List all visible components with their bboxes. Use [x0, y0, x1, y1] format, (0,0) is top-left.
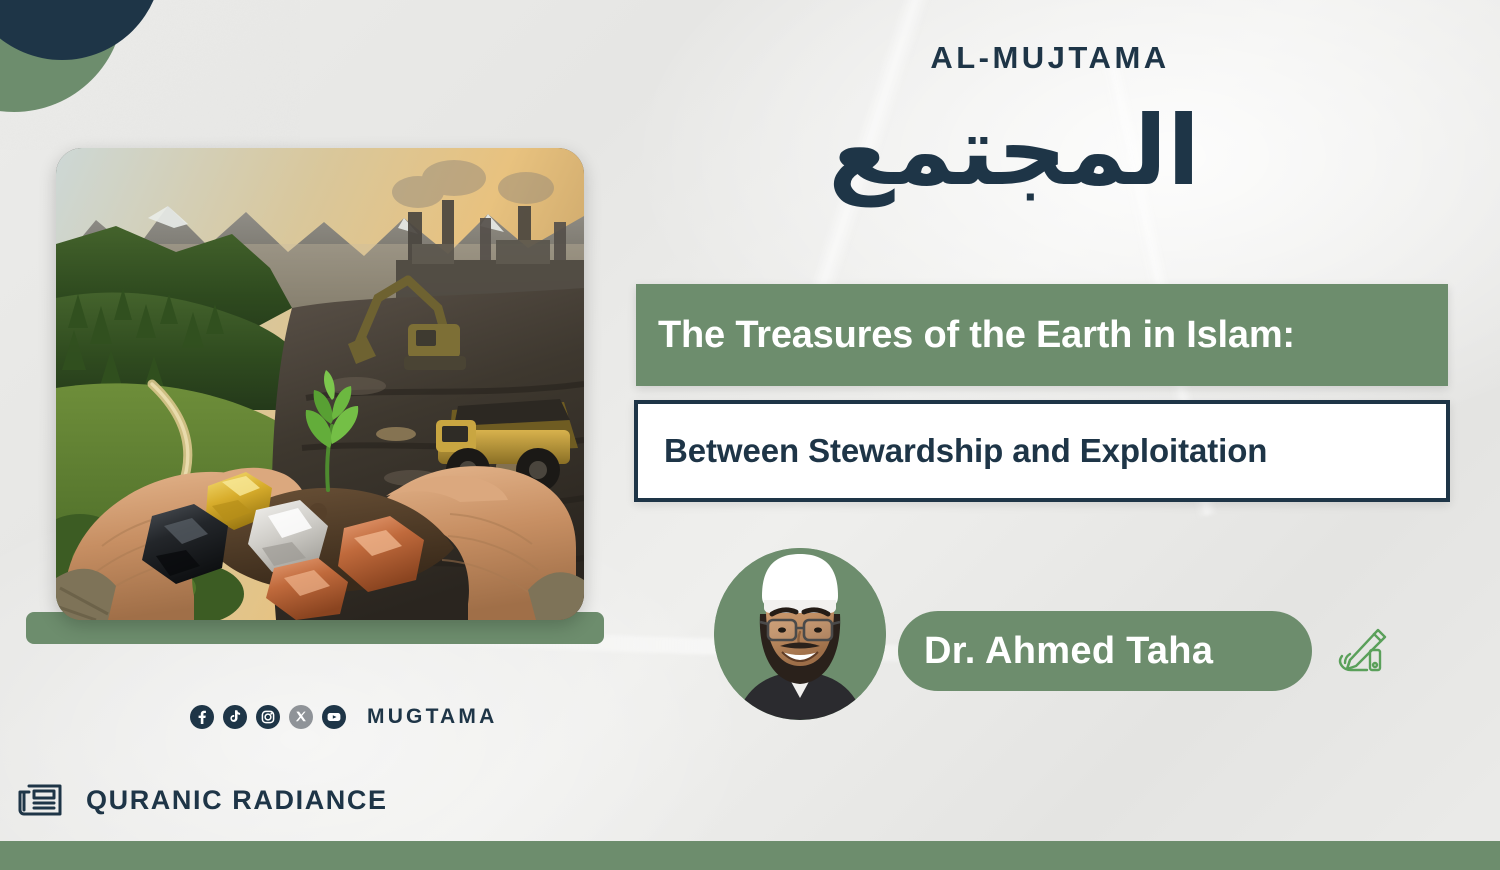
footer-brand: QURANIC RADIANCE	[18, 780, 388, 820]
tiktok-icon[interactable]	[223, 705, 247, 729]
author-name-pill: Dr. Ahmed Taha	[898, 611, 1312, 691]
title-primary-bar: The Treasures of the Earth in Islam:	[636, 284, 1448, 386]
bottom-accent-bar	[0, 841, 1500, 870]
page-subtitle: Between Stewardship and Exploitation	[638, 432, 1267, 470]
social-handle: MUGTAMA	[367, 705, 498, 729]
brand-latin-name: AL-MUJTAMA	[900, 40, 1200, 76]
instagram-icon[interactable]	[256, 705, 280, 729]
avatar	[714, 548, 886, 720]
title-secondary-box: Between Stewardship and Exploitation	[634, 400, 1450, 502]
newspaper-icon	[18, 780, 64, 820]
x-icon[interactable]	[289, 705, 313, 729]
social-links-row[interactable]: MUGTAMA	[190, 705, 498, 729]
brand-logo: AL-MUJTAMA المجتمع	[900, 40, 1200, 221]
hand-writing-icon	[1330, 620, 1392, 682]
footer-brand-label: QURANIC RADIANCE	[86, 785, 388, 816]
poster-canvas: AL-MUJTAMA المجتمع The Treasures of the …	[0, 0, 1500, 870]
hero-image	[56, 148, 584, 620]
corner-circle-navy	[0, 0, 162, 60]
youtube-icon[interactable]	[322, 705, 346, 729]
author-name: Dr. Ahmed Taha	[898, 630, 1213, 673]
facebook-icon[interactable]	[190, 705, 214, 729]
page-title: The Treasures of the Earth in Islam:	[636, 314, 1295, 357]
brand-arabic-name: المجتمع	[900, 82, 1200, 221]
